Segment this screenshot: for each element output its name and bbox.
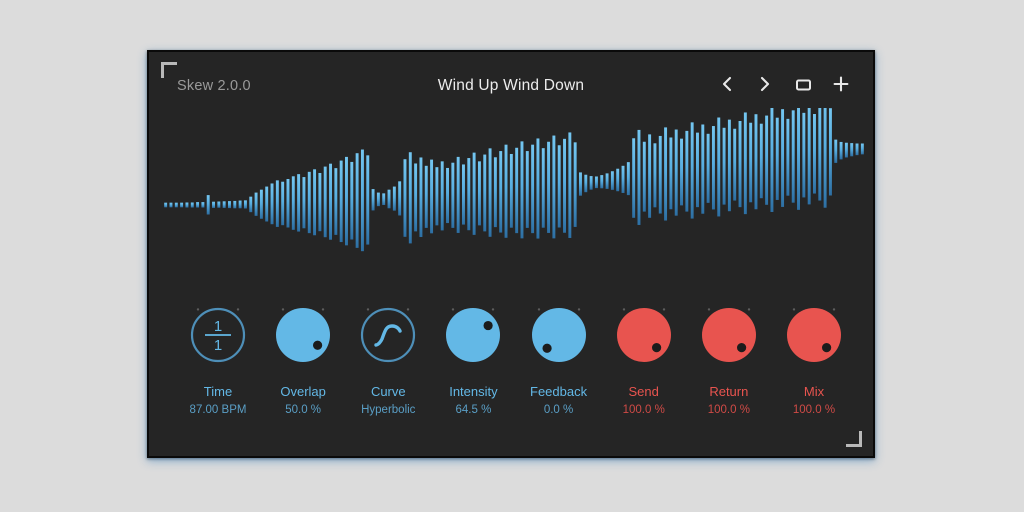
waveform-bar	[361, 150, 364, 252]
waveform-bar	[414, 163, 417, 231]
waveform-bar	[313, 169, 316, 235]
waveform-bar	[356, 153, 359, 248]
waveform-bar	[255, 193, 258, 216]
waveform-bar	[451, 163, 454, 228]
knob-value-time[interactable]: 87.00 BPM	[190, 404, 247, 417]
waveform-bar	[244, 200, 247, 208]
knob-cell-return: Return100.0 %	[688, 304, 770, 417]
waveform-bar	[829, 108, 832, 195]
waveform-bar	[861, 144, 864, 155]
waveform-bar	[515, 148, 518, 233]
knob-feedback[interactable]	[525, 304, 593, 372]
waveform-bar	[276, 180, 279, 227]
waveform-bar	[164, 203, 167, 208]
knob-body	[787, 308, 841, 362]
knob-intensity[interactable]	[439, 304, 507, 372]
waveform-bar	[526, 151, 529, 228]
waveform-bar	[212, 202, 215, 208]
waveform-bar	[175, 203, 178, 208]
waveform-bar	[467, 158, 470, 230]
waveform-canvas	[149, 108, 873, 302]
knob-value-mix[interactable]: 100.0 %	[793, 404, 835, 417]
waveform-bar	[755, 114, 758, 209]
waveform-bar	[223, 201, 226, 208]
waveform-bar	[345, 157, 348, 245]
knob-cell-mix: Mix100.0 %	[773, 304, 855, 417]
waveform-bar	[287, 179, 290, 228]
knob-cell-intensity: Intensity64.5 %	[432, 304, 514, 417]
knob-tick-max	[708, 308, 710, 310]
knob-graphic-mix	[780, 304, 848, 372]
knob-graphic-send	[610, 304, 678, 372]
waveform-bar	[723, 128, 726, 205]
waveform-bar	[404, 159, 407, 237]
knob-cell-feedback: Feedback0.0 %	[518, 304, 600, 417]
knob-label-return: Return	[709, 384, 748, 399]
plugin-window: Skew 2.0.0 Wind Up Wind Down	[147, 50, 875, 458]
knob-cell-curve: CurveHyperbolic	[347, 304, 429, 417]
waveform-bar	[840, 142, 843, 159]
waveform-bar	[547, 142, 550, 233]
knob-cell-send: Send100.0 %	[603, 304, 685, 417]
waveform-bar	[196, 202, 199, 207]
knob-value-curve[interactable]: Hyperbolic	[361, 404, 415, 417]
waveform-bar	[521, 141, 524, 238]
waveform-bar	[568, 132, 571, 238]
knob-tick-min	[237, 308, 239, 310]
waveform-bar	[499, 151, 502, 232]
knob-label-intensity: Intensity	[449, 384, 497, 399]
waveform-bar	[366, 155, 369, 244]
preset-browser-button[interactable]	[793, 73, 813, 95]
knob-tick-max	[622, 308, 624, 310]
waveform-bar	[542, 148, 545, 228]
knob-tick-max	[452, 308, 454, 310]
waveform-bar	[739, 121, 742, 207]
knob-overlap[interactable]	[269, 304, 337, 372]
prev-preset-button[interactable]	[717, 73, 737, 95]
waveform-bar	[494, 157, 497, 227]
waveform-bar	[489, 148, 492, 236]
waveform-bar	[340, 161, 343, 242]
waveform-bar	[435, 167, 438, 225]
waveform-bar	[792, 110, 795, 202]
knob-value-feedback[interactable]: 0.0 %	[544, 404, 573, 417]
knob-body	[276, 308, 330, 362]
waveform-bar	[446, 168, 449, 223]
knob-tick-max	[367, 308, 369, 310]
waveform-bar	[653, 143, 656, 207]
waveform-bar	[648, 134, 651, 217]
waveform-bar	[664, 127, 667, 220]
waveform-bar	[856, 144, 859, 156]
waveform-bar	[669, 137, 672, 209]
waveform-bar	[733, 129, 736, 201]
waveform-bar	[595, 176, 598, 188]
waveform-bar	[308, 172, 311, 233]
waveform-bar	[728, 120, 731, 212]
knob-value-intensity[interactable]: 64.5 %	[456, 404, 492, 417]
knob-value-overlap[interactable]: 50.0 %	[285, 404, 321, 417]
knob-body	[446, 308, 500, 362]
waveform-bar	[552, 136, 555, 239]
knob-pointer-dot	[652, 343, 661, 352]
fraction-denominator: 1	[214, 337, 222, 354]
knob-body	[532, 308, 586, 362]
knob-send[interactable]	[610, 304, 678, 372]
knob-cell-time: 11Time87.00 BPM	[177, 304, 259, 417]
waveform-bar	[483, 155, 486, 232]
knob-value-send[interactable]: 100.0 %	[623, 404, 665, 417]
knob-pointer-dot	[737, 343, 746, 352]
knob-label-curve: Curve	[371, 384, 406, 399]
waveform-bar	[297, 174, 300, 231]
knob-tick-max	[537, 308, 539, 310]
waveform-bar	[563, 139, 566, 233]
fraction-numerator: 1	[214, 318, 222, 335]
waveform-bar	[170, 203, 173, 208]
knob-pointer-dot	[542, 344, 551, 353]
header-controls	[717, 73, 851, 95]
waveform-bar	[834, 140, 837, 163]
waveform-bar	[781, 109, 784, 207]
waveform-bar	[382, 193, 385, 205]
waveform-bar	[680, 139, 683, 206]
waveform-bar	[531, 145, 534, 233]
knob-label-time: Time	[204, 384, 232, 399]
waveform-bar	[393, 187, 396, 211]
waveform-bar	[744, 112, 747, 214]
waveform-bar	[824, 108, 827, 208]
waveform-bar	[616, 169, 619, 192]
knob-label-mix: Mix	[804, 384, 824, 399]
chevron-left-icon	[721, 76, 733, 92]
waveform-bar	[574, 142, 577, 227]
waveform-bar	[590, 176, 593, 190]
waveform-bar	[302, 177, 305, 228]
knob-cell-overlap: Overlap50.0 %	[262, 304, 344, 417]
waveform-bar	[818, 108, 821, 201]
knob-tick-min	[577, 308, 579, 310]
knob-tick-min	[833, 308, 835, 310]
knob-graphic-feedback	[525, 304, 593, 372]
knob-value-return[interactable]: 100.0 %	[708, 404, 750, 417]
knob-pointer-dot	[484, 321, 493, 330]
waveform-bar	[271, 183, 274, 224]
waveform-bar	[191, 202, 194, 207]
waveform-bar	[457, 157, 460, 233]
knob-tick-min	[407, 308, 409, 310]
knob-label-feedback: Feedback	[530, 384, 587, 399]
knob-tick-max	[197, 308, 199, 310]
waveform-bar	[696, 133, 699, 208]
waveform-bar	[430, 160, 433, 234]
waveform-bar	[643, 142, 646, 212]
waveform-bar	[473, 153, 476, 235]
knob-body	[702, 308, 756, 362]
waveform-bar	[786, 119, 789, 196]
rectangle-icon	[795, 76, 812, 92]
waveform-bar	[797, 108, 800, 210]
waveform-bar	[802, 113, 805, 198]
knob-tick-min	[492, 308, 494, 310]
waveform-bar	[185, 202, 188, 207]
knob-graphic-intensity	[439, 304, 507, 372]
waveform-bar	[701, 124, 704, 213]
waveform-bar	[233, 201, 236, 208]
waveform-bars	[164, 108, 864, 251]
add-preset-button[interactable]	[831, 73, 851, 95]
waveform-bar	[372, 189, 375, 210]
waveform-bar	[398, 181, 401, 215]
waveform-bar	[249, 197, 252, 213]
waveform-bar	[350, 162, 353, 240]
knob-return[interactable]	[695, 304, 763, 372]
knob-graphic-curve	[354, 304, 422, 372]
chevron-right-icon	[759, 76, 771, 92]
waveform-bar	[675, 130, 678, 216]
waveform-bar	[606, 173, 609, 189]
waveform-bar	[334, 168, 337, 235]
knob-label-send: Send	[629, 384, 659, 399]
plugin-header: Skew 2.0.0 Wind Up Wind Down	[149, 52, 873, 108]
waveform-bar	[377, 193, 380, 207]
knob-tick-max	[282, 308, 284, 310]
waveform-bar	[845, 143, 848, 158]
waveform-bar	[409, 152, 412, 243]
waveform-bar	[318, 173, 321, 231]
waveform-bar	[207, 195, 210, 214]
waveform-bar	[770, 108, 773, 212]
waveform-bar	[441, 161, 444, 230]
waveform-bar	[579, 172, 582, 195]
knob-mix[interactable]	[780, 304, 848, 372]
waveform-bar	[776, 118, 779, 200]
waveform-bar	[813, 114, 816, 194]
knob-graphic-time: 11	[184, 304, 252, 372]
knob-pointer-dot	[313, 341, 322, 350]
s-curve-icon	[376, 326, 400, 345]
waveform-bar	[638, 130, 641, 225]
waveform-bar	[478, 161, 481, 225]
waveform-bar	[462, 164, 465, 224]
waveform-bar	[265, 187, 268, 222]
waveform-bar	[659, 136, 662, 214]
waveform-bar	[217, 202, 220, 208]
knob-tick-min	[748, 308, 750, 310]
waveform-bar	[510, 154, 513, 228]
knob-label-overlap: Overlap	[280, 384, 326, 399]
knob-graphic-return	[695, 304, 763, 372]
waveform-bar	[505, 145, 508, 238]
knob-curve[interactable]	[354, 304, 422, 372]
waveform-bar	[388, 190, 391, 209]
waveform-bar	[180, 203, 183, 208]
waveform-display[interactable]	[149, 108, 873, 302]
waveform-bar	[707, 134, 710, 203]
knob-body	[617, 308, 671, 362]
waveform-bar	[425, 166, 428, 228]
waveform-bar	[584, 175, 587, 192]
waveform-bar	[281, 182, 284, 225]
knob-row: 11Time87.00 BPMOverlap50.0 %CurveHyperbo…	[177, 304, 855, 440]
waveform-bar	[600, 175, 603, 188]
waveform-bar	[201, 202, 204, 207]
knob-graphic-overlap	[269, 304, 337, 372]
knob-tick-max	[793, 308, 795, 310]
knob-pointer-dot	[822, 343, 831, 352]
waveform-bar	[329, 164, 332, 240]
knob-ring	[362, 309, 414, 361]
waveform-bar	[627, 162, 630, 195]
knob-time[interactable]: 11	[184, 304, 252, 372]
waveform-bar	[765, 116, 768, 205]
waveform-bar	[691, 122, 694, 218]
waveform-bar	[292, 176, 295, 230]
knob-tick-min	[663, 308, 665, 310]
next-preset-button[interactable]	[755, 73, 775, 95]
plus-icon	[833, 76, 849, 92]
waveform-bar	[622, 166, 625, 193]
waveform-bar	[239, 201, 242, 209]
waveform-bar	[260, 190, 263, 219]
waveform-bar	[324, 167, 327, 238]
waveform-bar	[760, 124, 763, 198]
waveform-bar	[685, 131, 688, 212]
waveform-bar	[717, 118, 720, 217]
waveform-bar	[419, 157, 422, 237]
page-background: Skew 2.0.0 Wind Up Wind Down	[0, 0, 1024, 512]
knob-tick-min	[322, 308, 324, 310]
waveform-bar	[611, 171, 614, 190]
waveform-bar	[632, 138, 635, 218]
waveform-bar	[749, 123, 752, 203]
waveform-bar	[558, 145, 561, 227]
waveform-bar	[808, 108, 811, 204]
waveform-bar	[536, 138, 539, 238]
waveform-bar	[228, 201, 231, 208]
waveform-bar	[712, 126, 715, 209]
waveform-bar	[850, 143, 853, 156]
